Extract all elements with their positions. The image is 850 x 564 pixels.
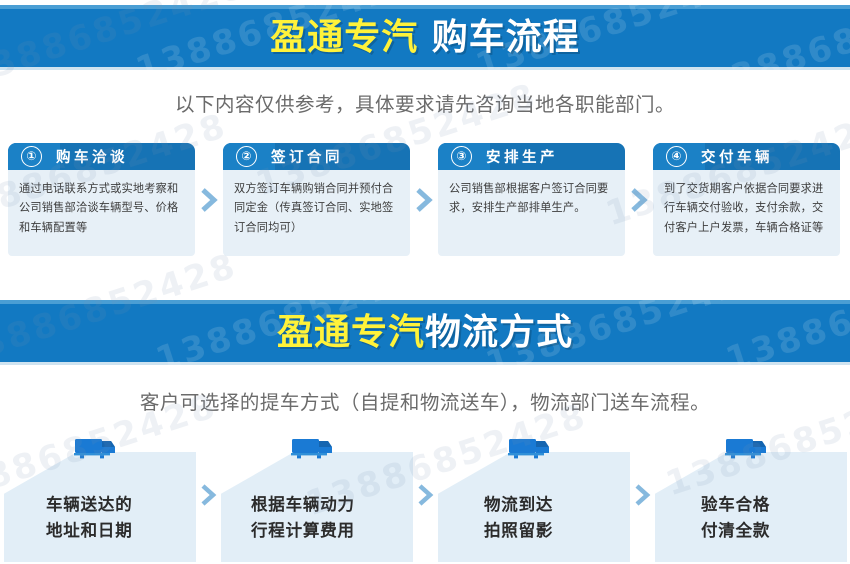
logistics-card-4-line1: 验车合格: [701, 492, 770, 519]
logistics-card-1[interactable]: 车辆送达的 地址和日期: [4, 436, 196, 562]
logistics-subtitle: 客户可选择的提车方式（自提和物流送车），物流部门送车流程。: [0, 386, 850, 415]
logistics-card-1-text: 车辆送达的 地址和日期: [46, 492, 133, 545]
step-title-2: 签订合同: [271, 146, 343, 167]
step-card-4[interactable]: ④ 交付车辆 到了交货期客户依据合同要求进行车辆交付验收，支付余款，交付客户上户…: [653, 143, 840, 256]
step-title-3: 安排生产: [486, 146, 558, 167]
chevron-right-icon: [413, 436, 438, 562]
purchase-subtitle: 以下内容仅供参考，具体要求请先咨询当地各职能部门。: [0, 88, 850, 117]
purchase-process-banner: 盈通专汽 购车流程: [0, 5, 850, 70]
logistics-card-1-line2: 地址和日期: [46, 518, 133, 545]
page-root: 13886852428 13886852428 13886852428 1388…: [0, 0, 850, 564]
step-number-4: ④: [666, 146, 687, 167]
step-number-1: ①: [21, 146, 42, 167]
chevron-right-icon: [410, 143, 438, 256]
step-card-2-header: ② 签订合同: [223, 143, 410, 170]
logistics-card-2-text: 根据车辆动力 行程计算费用: [251, 492, 355, 545]
step-title-4: 交付车辆: [701, 146, 773, 167]
logistics-banner-title: 盈通专汽物流方式: [277, 315, 573, 351]
step-card-4-header: ④ 交付车辆: [653, 143, 840, 170]
step-title-1: 购车洽谈: [56, 146, 128, 167]
logistics-card-4-line2: 付清全款: [701, 518, 770, 545]
logistics-card-2-line1: 根据车辆动力: [251, 492, 355, 519]
logistics-banner-title-rest: 物流方式: [425, 312, 573, 353]
logistics-card-3[interactable]: 物流到达 拍照留影: [438, 436, 630, 562]
step-card-1-header: ① 购车洽谈: [8, 143, 195, 170]
step-card-3[interactable]: ③ 安排生产 公司销售部根据客户签订合同要求，安排生产部排单生产。: [438, 143, 625, 256]
truck-icon: [723, 436, 769, 462]
step-body-4: 到了交货期客户依据合同要求进行车辆交付验收，支付余款，交付客户上户发票，车辆合格…: [653, 170, 840, 256]
logistics-card-1-line1: 车辆送达的: [46, 492, 133, 519]
step-body-2: 双方签订车辆购销合同并预付合同定金（传真签订合同、实地签订合同均可）: [223, 170, 410, 256]
truck-icon: [506, 436, 552, 462]
step-card-3-header: ③ 安排生产: [438, 143, 625, 170]
step-card-2[interactable]: ② 签订合同 双方签订车辆购销合同并预付合同定金（传真签订合同、实地签订合同均可…: [223, 143, 410, 256]
step-body-1: 通过电话联系方式或实地考察和公司销售部洽谈车辆型号、价格和车辆配置等: [8, 170, 195, 256]
purchase-banner-title-rest: 购车流程: [418, 17, 580, 58]
logistics-card-4-text: 验车合格 付清全款: [701, 492, 770, 545]
logistics-card-4[interactable]: 验车合格 付清全款: [655, 436, 847, 562]
chevron-right-icon: [196, 436, 221, 562]
truck-icon: [72, 436, 118, 462]
purchase-banner-title-brand: 盈通专汽: [270, 17, 418, 58]
logistics-cards-row: 车辆送达的 地址和日期 根据车辆动力 行程计算费用: [4, 432, 846, 562]
logistics-banner-title-brand: 盈通专汽: [277, 312, 425, 353]
logistics-card-3-line2: 拍照留影: [484, 518, 553, 545]
step-number-2: ②: [236, 146, 257, 167]
purchase-banner-title: 盈通专汽 购车流程: [270, 20, 580, 56]
logistics-card-3-line1: 物流到达: [484, 492, 553, 519]
logistics-card-3-text: 物流到达 拍照留影: [484, 492, 553, 545]
step-body-3: 公司销售部根据客户签订合同要求，安排生产部排单生产。: [438, 170, 625, 256]
step-card-1[interactable]: ① 购车洽谈 通过电话联系方式或实地考察和公司销售部洽谈车辆型号、价格和车辆配置…: [8, 143, 195, 256]
logistics-card-2[interactable]: 根据车辆动力 行程计算费用: [221, 436, 413, 562]
purchase-steps-row: ① 购车洽谈 通过电话联系方式或实地考察和公司销售部洽谈车辆型号、价格和车辆配置…: [8, 143, 842, 258]
logistics-card-2-line2: 行程计算费用: [251, 518, 355, 545]
chevron-right-icon: [625, 143, 653, 256]
step-number-3: ③: [451, 146, 472, 167]
chevron-right-icon: [630, 436, 655, 562]
logistics-banner: 盈通专汽物流方式: [0, 300, 850, 365]
chevron-right-icon: [195, 143, 223, 256]
truck-icon: [289, 436, 335, 462]
